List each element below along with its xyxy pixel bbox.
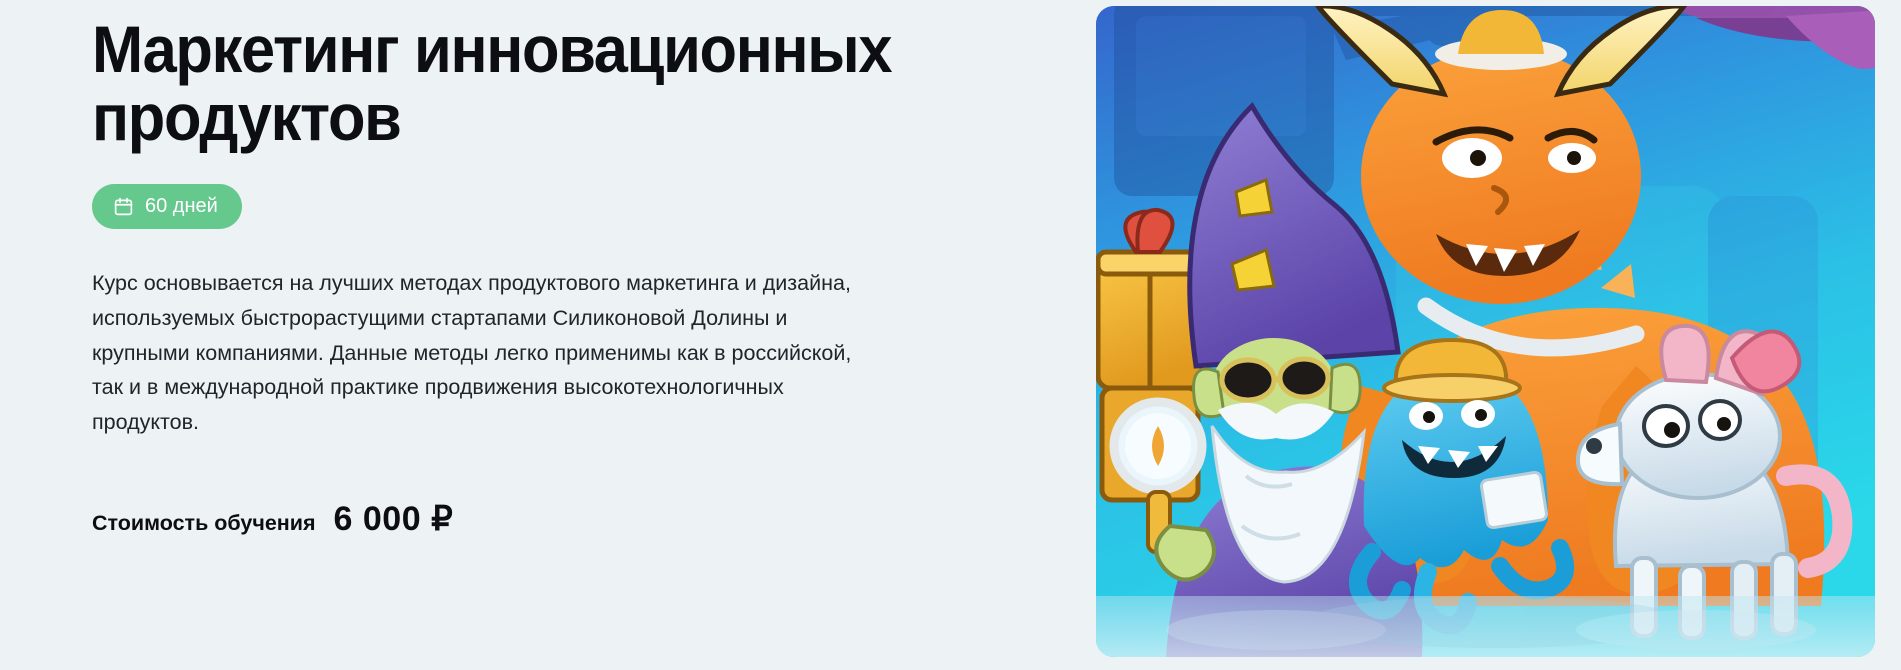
duration-badge-label: 60 дней (145, 196, 218, 216)
price-row: Стоимость обучения 6 000 ₽ (92, 499, 453, 539)
duration-badge: 60 дней (92, 184, 242, 229)
course-description: Курс основывается на лучших методах прод… (92, 266, 852, 440)
price-label: Стоимость обучения (92, 511, 316, 536)
artwork-background (1096, 6, 1875, 657)
course-artwork (1096, 6, 1875, 657)
calendar-icon (113, 196, 134, 217)
course-info-column: Маркетинг инновационных продуктов 60 дне… (0, 0, 1096, 670)
badge-row: 60 дней (92, 184, 242, 229)
price-value: 6 000 ₽ (334, 499, 454, 539)
page-title: Маркетинг инновационных продуктов (92, 16, 948, 152)
course-card: Маркетинг инновационных продуктов 60 дне… (0, 0, 1901, 670)
cartoon-monsters-illustration (1096, 6, 1875, 657)
